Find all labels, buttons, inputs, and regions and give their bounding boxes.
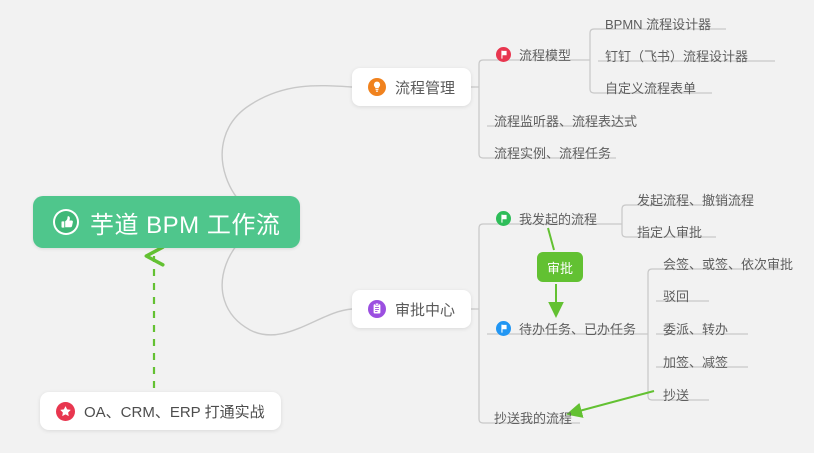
node-countersign[interactable]: 会签、或签、依次审批 bbox=[656, 250, 800, 276]
node-todo-done-tasks[interactable]: 待办任务、已办任务 bbox=[489, 315, 643, 341]
label-dingtalk-feishu-designer: 钉钉（飞书）流程设计器 bbox=[605, 46, 748, 65]
flag-icon bbox=[496, 211, 511, 226]
node-dingtalk-feishu-designer[interactable]: 钉钉（飞书）流程设计器 bbox=[598, 42, 755, 68]
mindmap-canvas: 芋道 BPM 工作流 流程管理 流程模型 BPMN 流程设计器 钉钉（飞书）流程… bbox=[0, 0, 814, 453]
label-cc: 抄送 bbox=[663, 385, 689, 404]
connector-mine-spine bbox=[622, 205, 630, 237]
star-icon bbox=[56, 402, 75, 421]
arrow-cc-to-cc-my-process bbox=[568, 391, 654, 414]
node-bpmn-designer[interactable]: BPMN 流程设计器 bbox=[598, 10, 718, 36]
node-start-cancel[interactable]: 发起流程、撤销流程 bbox=[630, 186, 761, 212]
label-start-cancel: 发起流程、撤销流程 bbox=[637, 190, 754, 209]
label-reject: 驳回 bbox=[663, 286, 689, 305]
lightbulb-icon bbox=[368, 78, 386, 96]
branch-label-process-management: 流程管理 bbox=[395, 77, 455, 98]
node-listener-expression[interactable]: 流程监听器、流程表达式 bbox=[487, 107, 644, 133]
callout-label: OA、CRM、ERP 打通实战 bbox=[84, 401, 265, 422]
flag-icon bbox=[496, 321, 511, 336]
root-node[interactable]: 芋道 BPM 工作流 bbox=[33, 196, 300, 248]
label-assignee-approval: 指定人审批 bbox=[637, 222, 702, 241]
label-process-model: 流程模型 bbox=[519, 45, 571, 64]
label-listener-expression: 流程监听器、流程表达式 bbox=[494, 111, 637, 130]
arrow-approval-flow-top bbox=[548, 228, 554, 250]
label-add-remove-sign: 加签、减签 bbox=[663, 352, 728, 371]
annotation-approval-tag: 审批 bbox=[537, 252, 583, 282]
root-label: 芋道 BPM 工作流 bbox=[90, 205, 280, 240]
branch-node-approval-center[interactable]: 审批中心 bbox=[352, 290, 471, 328]
thumbs-up-icon bbox=[53, 209, 79, 235]
label-countersign: 会签、或签、依次审批 bbox=[663, 254, 793, 273]
node-process-model[interactable]: 流程模型 bbox=[489, 41, 578, 67]
connector-pm-spine bbox=[479, 60, 487, 158]
node-reject[interactable]: 驳回 bbox=[656, 282, 696, 308]
label-cc-my-process: 抄送我的流程 bbox=[494, 408, 572, 427]
connector-ac-spine bbox=[479, 224, 487, 423]
clipboard-icon bbox=[368, 300, 386, 318]
node-custom-process-form[interactable]: 自定义流程表单 bbox=[598, 74, 703, 100]
label-custom-process-form: 自定义流程表单 bbox=[605, 78, 696, 97]
label-delegate-transfer: 委派、转办 bbox=[663, 319, 728, 338]
label-todo-done-tasks: 待办任务、已办任务 bbox=[519, 319, 636, 338]
branch-node-process-management[interactable]: 流程管理 bbox=[352, 68, 471, 106]
label-bpmn-designer: BPMN 流程设计器 bbox=[605, 14, 711, 33]
node-cc-my-process[interactable]: 抄送我的流程 bbox=[487, 404, 579, 430]
flag-icon bbox=[496, 47, 511, 62]
label-instance-task: 流程实例、流程任务 bbox=[494, 143, 611, 162]
node-assignee-approval[interactable]: 指定人审批 bbox=[630, 218, 709, 244]
node-delegate-transfer[interactable]: 委派、转办 bbox=[656, 315, 735, 341]
annotation-approval-label: 审批 bbox=[547, 258, 573, 277]
node-my-initiated[interactable]: 我发起的流程 bbox=[489, 205, 604, 231]
branch-label-approval-center: 审批中心 bbox=[395, 299, 455, 320]
connector-todo-spine bbox=[648, 269, 656, 400]
connector-pmodel-spine bbox=[590, 29, 598, 93]
label-my-initiated: 我发起的流程 bbox=[519, 209, 597, 228]
node-instance-task[interactable]: 流程实例、流程任务 bbox=[487, 139, 618, 165]
node-add-remove-sign[interactable]: 加签、减签 bbox=[656, 348, 735, 374]
callout-node-integration[interactable]: OA、CRM、ERP 打通实战 bbox=[40, 392, 281, 430]
node-cc[interactable]: 抄送 bbox=[656, 381, 696, 407]
